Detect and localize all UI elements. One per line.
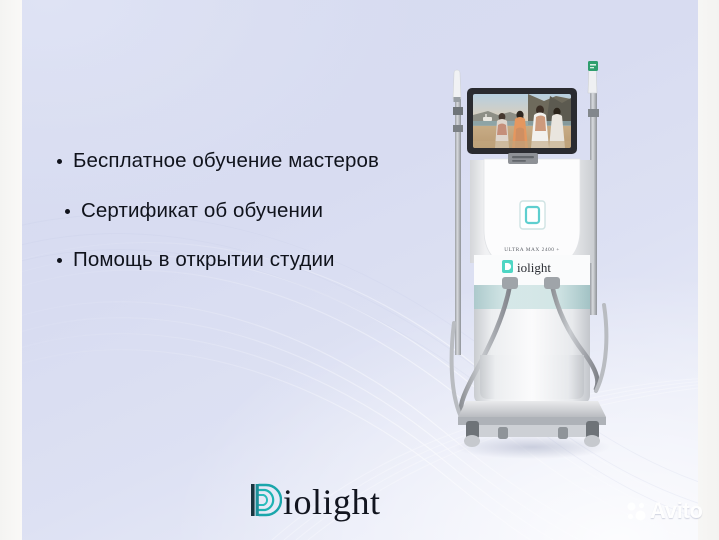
benefits-list: Бесплатное обучение мастеров Сертификат … <box>22 148 442 297</box>
slide-canvas: ULTRA MAX 2400 + iolight <box>0 0 719 540</box>
brand-wordmark: iolight <box>283 484 381 520</box>
avito-label: Avito <box>650 500 703 522</box>
brand-monogram-d-icon <box>248 481 282 521</box>
device-model-text: ULTRA MAX 2400 + <box>504 247 560 253</box>
list-item-label: Сертификат об обучении <box>81 198 323 224</box>
bullet-dot-icon <box>57 258 62 263</box>
right-margin-strip <box>698 0 719 540</box>
brand-logo: iolight <box>248 481 381 521</box>
list-item-label: Помощь в открытии студии <box>73 247 335 273</box>
left-margin-strip <box>0 0 22 540</box>
avito-dots-icon <box>626 501 647 522</box>
list-item-label: Бесплатное обучение мастеров <box>73 148 379 174</box>
list-item: Помощь в открытии студии <box>22 247 442 273</box>
list-item: Сертификат об обучении <box>22 198 442 224</box>
list-item: Бесплатное обучение мастеров <box>22 148 442 174</box>
bullet-dot-icon <box>57 159 62 164</box>
avito-watermark: Avito <box>626 500 703 522</box>
device-illustration: ULTRA MAX 2400 + iolight <box>440 55 630 465</box>
device-brand-logo: iolight <box>502 260 551 275</box>
svg-text:iolight: iolight <box>517 260 551 275</box>
bullet-dot-icon <box>65 209 70 214</box>
content-panel: ULTRA MAX 2400 + iolight <box>22 0 698 540</box>
device-screen <box>467 88 577 164</box>
